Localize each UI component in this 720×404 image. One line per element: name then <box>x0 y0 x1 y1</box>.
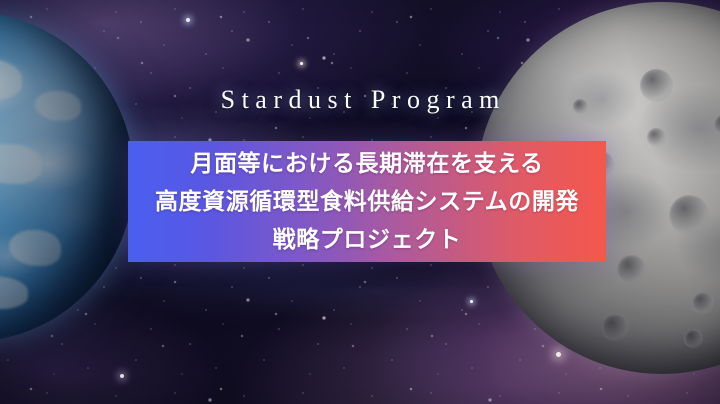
project-title-banner: 月面等における長期滞在を支える 高度資源循環型食料供給システムの開発 戦略プロジ… <box>128 141 606 262</box>
stardust-program-slide: Stardust Program 月面等における長期滞在を支える 高度資源循環型… <box>0 0 720 404</box>
page-title: Stardust Program <box>0 84 720 116</box>
project-title-line: 戦略プロジェクト <box>273 221 462 259</box>
project-title-line: 月面等における長期滞在を支える <box>190 145 543 183</box>
project-title-line: 高度資源循環型食料供給システムの開発 <box>155 183 579 221</box>
